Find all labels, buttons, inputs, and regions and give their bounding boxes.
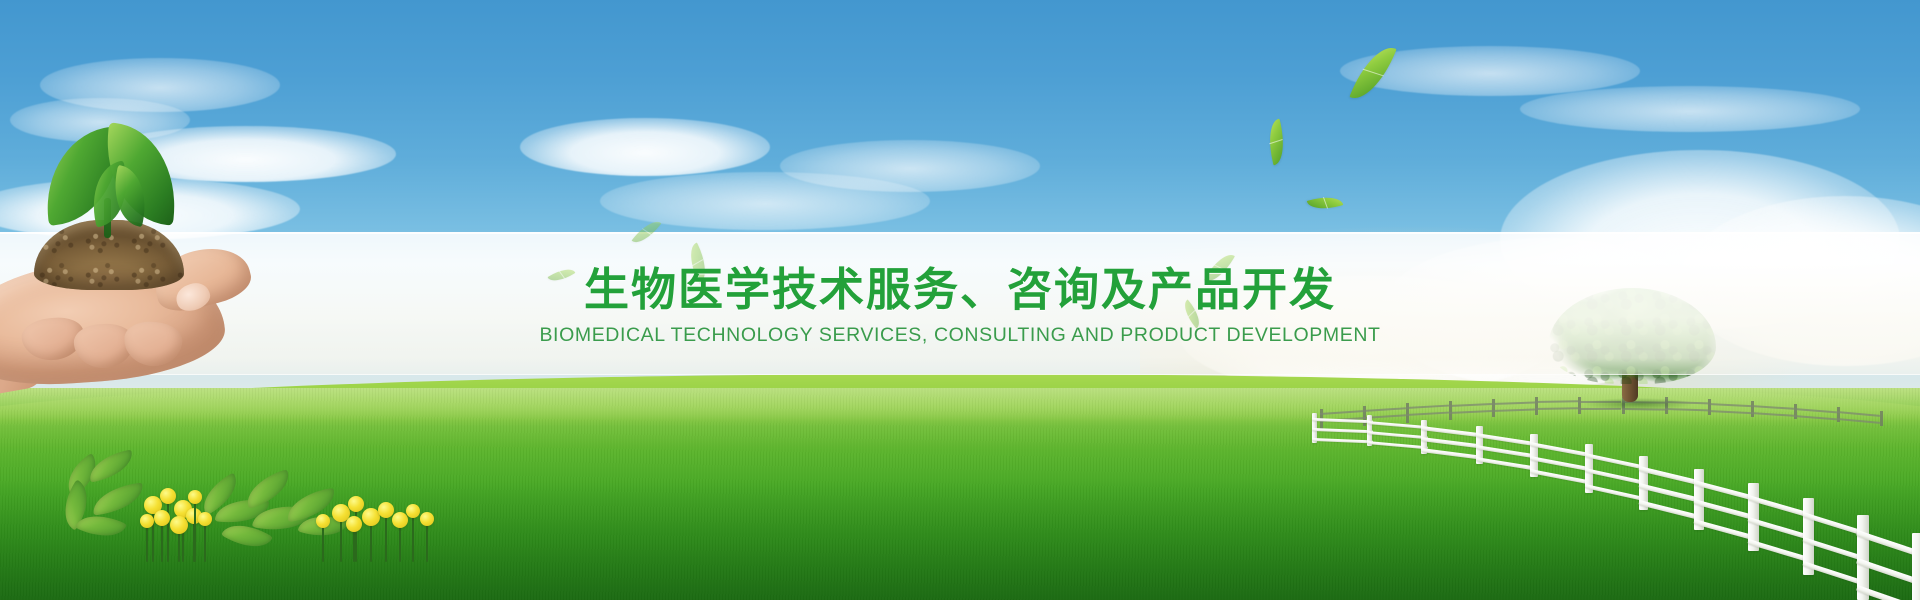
fence-far-rail: [1449, 410, 1492, 414]
hand-holding-soil-with-sprout: [0, 142, 286, 392]
fence-rail: [1421, 448, 1482, 459]
yellow-flower: [316, 514, 330, 528]
fence-rail: [1530, 470, 1591, 485]
leaf-vein: [1363, 68, 1384, 76]
fence-far-rail: [1449, 403, 1492, 407]
hero-banner: 生物医学技术服务、咨询及产品开发 BIOMEDICAL TECHNOLOGY S…: [0, 0, 1920, 600]
foliage-with-yellow-flowers: [48, 452, 448, 600]
fence-rail: [1584, 469, 1645, 486]
fence-far-rail: [1535, 408, 1578, 411]
fence-far-rail: [1320, 410, 1363, 415]
yellow-flower: [160, 488, 176, 504]
leaf-vein: [692, 259, 704, 267]
cloud-center-puff: [520, 118, 770, 176]
yellow-flower: [198, 512, 212, 526]
headline-band: [0, 232, 1920, 375]
flower-stem: [412, 511, 414, 562]
fence-far-rail: [1363, 407, 1406, 412]
fence-rail: [1366, 441, 1427, 450]
fence-far-rail: [1492, 401, 1535, 404]
yellow-flower: [378, 502, 394, 518]
fence-rail: [1475, 445, 1536, 458]
yellow-flower: [170, 516, 188, 534]
fence-far-post: [1880, 411, 1883, 426]
yellow-flower: [348, 496, 364, 512]
fence-rail: [1584, 453, 1645, 470]
cloud-center-right: [780, 140, 1040, 192]
tree-shadow: [1584, 398, 1692, 410]
fence-post: [1912, 533, 1920, 600]
yellow-flower: [188, 490, 202, 504]
fence-rail: [1639, 500, 1700, 519]
leaf-vein: [558, 271, 564, 279]
yellow-flower: [346, 516, 362, 532]
fence-rail: [1421, 437, 1482, 448]
fence-far-rail: [1837, 411, 1880, 417]
fence-rail: [1584, 484, 1645, 501]
flower-stem: [167, 496, 169, 562]
yellow-flower: [406, 504, 420, 518]
fence-far-rail: [1751, 412, 1794, 417]
fence-rail: [1366, 421, 1427, 429]
plant-leaf: [90, 483, 145, 516]
fence-far-rail: [1794, 408, 1837, 413]
leaf-vein: [1323, 197, 1328, 208]
yellow-flower: [154, 510, 170, 526]
flower-stem: [194, 497, 196, 562]
fence-far-post: [1449, 401, 1452, 420]
cloud-right-streak: [1520, 86, 1860, 132]
yellow-flower: [140, 514, 154, 528]
fence-far-post: [1751, 401, 1754, 417]
fence-rail: [1312, 428, 1373, 433]
fence-rail: [1475, 457, 1536, 470]
fence-far-rail: [1708, 410, 1751, 414]
leaf-vein: [1269, 139, 1283, 144]
leaf-vein: [1188, 310, 1196, 318]
fence-far-rail: [1406, 412, 1449, 416]
yellow-flower: [392, 512, 408, 528]
leaf-vein: [1214, 265, 1226, 271]
fence-rail: [1475, 433, 1536, 446]
fence-rail: [1530, 456, 1591, 471]
fence-far-rail: [1406, 405, 1449, 409]
flower-stem: [355, 504, 357, 562]
fence-rail: [1421, 426, 1482, 437]
white-post-and-rail-fence: [1300, 395, 1920, 585]
fence-rail: [1530, 442, 1591, 457]
fence-far-rail: [1751, 405, 1794, 410]
fence-far-post: [1492, 399, 1495, 417]
fence-far-rail: [1492, 408, 1535, 411]
fence-far-rail: [1837, 418, 1880, 424]
fence-rail: [1312, 438, 1373, 443]
fence-far-rail: [1794, 415, 1837, 420]
yellow-flower: [420, 512, 434, 526]
leaf-vein: [642, 228, 652, 235]
fence-rail: [1366, 431, 1427, 439]
